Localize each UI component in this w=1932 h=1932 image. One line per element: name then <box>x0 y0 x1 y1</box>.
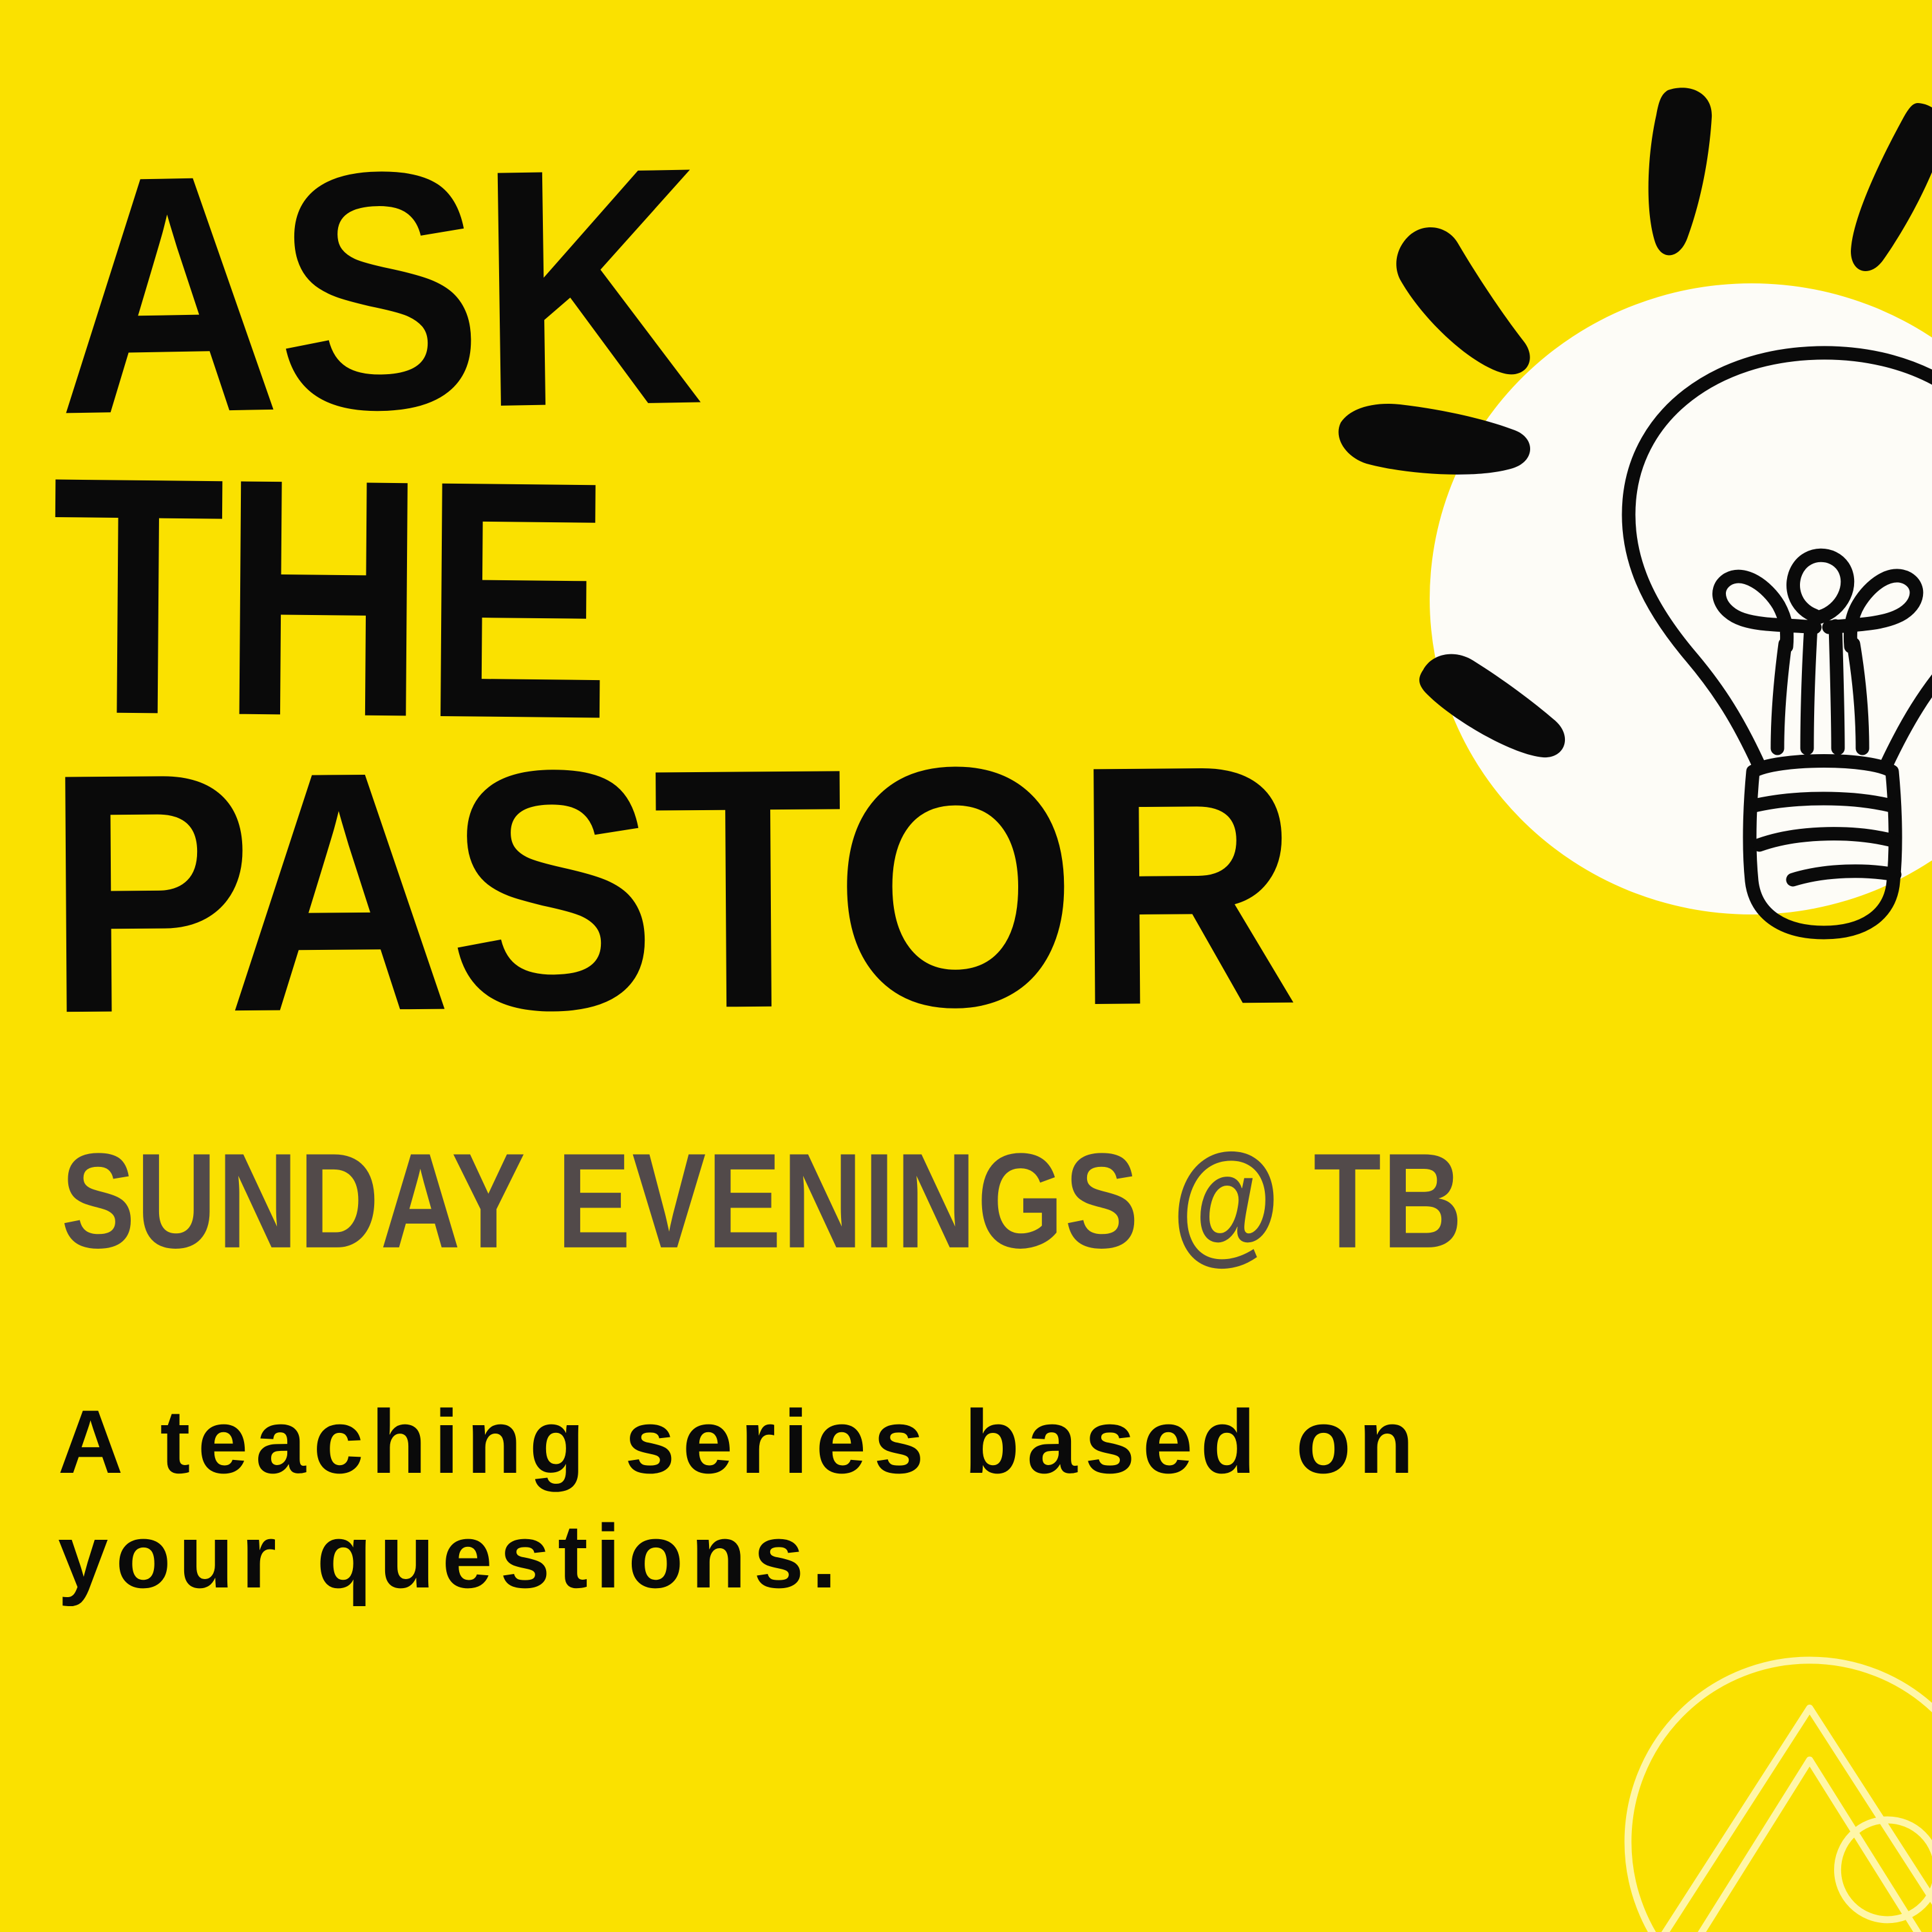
bulb-base-thread-2 <box>1759 834 1895 845</box>
bulb-glass <box>1629 353 1932 766</box>
watermark-chevron-outer <box>1662 1708 1932 1932</box>
bulb-filament-stem-center-right <box>1835 626 1838 748</box>
bulb-filament-stem-left <box>1777 644 1785 748</box>
bulb-base-body <box>1750 761 1895 933</box>
watermark-circle <box>1628 1660 1932 1932</box>
bulb-filament-right-loop <box>1829 576 1917 647</box>
poster-title: ASK THE PASTOR <box>45 161 1397 1029</box>
ray-top-right <box>1851 103 1932 271</box>
watermark-dot <box>1837 1820 1932 1920</box>
watermark-chevron-inner <box>1696 1760 1923 1932</box>
ray-upper-left <box>1396 227 1529 374</box>
body-copy-line-2: your questions. <box>58 1499 1900 1614</box>
poster-subtitle: SUNDAY EVENINGS @ TB <box>61 1133 1464 1269</box>
title-line-ask: ASK <box>55 132 1346 438</box>
bulb-base-thread-3 <box>1793 871 1895 880</box>
church-logo-watermark <box>1610 1642 1932 1932</box>
poster-canvas: ASK THE PASTOR SUNDAY EVENINGS @ TB A te… <box>0 0 1932 1932</box>
title-line-pastor: PASTOR <box>44 741 1358 1037</box>
bulb-filament-stem-right <box>1853 644 1862 748</box>
bulb-base-thread-1 <box>1752 799 1893 806</box>
bulb-filament-stem-center-left <box>1807 626 1811 748</box>
poster-body-copy: A teaching series based on your question… <box>58 1385 1900 1614</box>
lightbulb-illustration <box>1327 64 1932 998</box>
bulb-filament-left-loop <box>1719 576 1815 647</box>
bulb-filament-center-loop <box>1793 555 1847 617</box>
sparkle-rays <box>1338 88 1932 757</box>
bulb-glow-circle <box>1430 283 1932 914</box>
ray-lower-left <box>1419 654 1565 757</box>
body-copy-line-1: A teaching series based on <box>58 1385 1900 1499</box>
ray-top-center <box>1649 88 1712 255</box>
bulb-outline <box>1629 353 1932 933</box>
